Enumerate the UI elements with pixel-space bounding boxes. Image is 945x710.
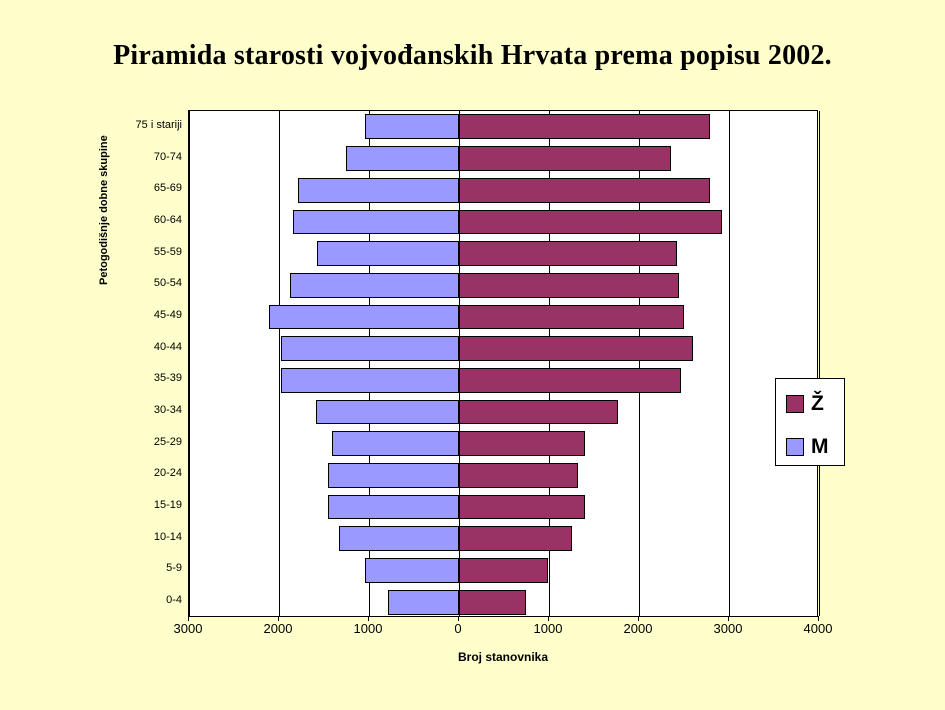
x-tick-label-3: 0 bbox=[454, 621, 461, 636]
y-axis-tick-labels: 75 i stariji70-7465-6960-6455-5950-5445-… bbox=[0, 110, 182, 617]
y-tick-15-19: 15-19 bbox=[154, 499, 182, 511]
bar-male-25-29 bbox=[332, 431, 459, 456]
legend-label-Ž: Ž bbox=[811, 393, 824, 414]
y-tick-45-49: 45-49 bbox=[154, 309, 182, 321]
bar-row bbox=[189, 305, 817, 330]
y-tick-0-4: 0-4 bbox=[166, 594, 182, 606]
x-axis-title: Broj stanovnika bbox=[188, 650, 818, 664]
y-tick-65-69: 65-69 bbox=[154, 182, 182, 194]
y-tick-60-64: 60-64 bbox=[154, 214, 182, 226]
bar-male-15-19 bbox=[328, 495, 459, 520]
bar-male-20-24 bbox=[328, 463, 459, 488]
bar-row bbox=[189, 210, 817, 235]
y-tick-10-14: 10-14 bbox=[154, 531, 182, 543]
plot-area bbox=[188, 110, 818, 617]
y-tick-5-9: 5-9 bbox=[166, 562, 182, 574]
bar-male-55-59 bbox=[317, 241, 459, 266]
bar-row bbox=[189, 526, 817, 551]
bar-male-10-14 bbox=[339, 526, 459, 551]
bar-male-35-39 bbox=[281, 368, 459, 393]
bar-row bbox=[189, 241, 817, 266]
y-tick-40-44: 40-44 bbox=[154, 341, 182, 353]
plot-inner bbox=[189, 111, 817, 616]
y-tick-75-i-stariji: 75 i stariji bbox=[136, 119, 182, 131]
bar-female-25-29 bbox=[459, 431, 585, 456]
x-tick-label-4: 1000 bbox=[534, 621, 563, 636]
bar-female-15-19 bbox=[459, 495, 585, 520]
bar-male-50-54 bbox=[290, 273, 459, 298]
bar-female-45-49 bbox=[459, 305, 684, 330]
legend-entry-Ž: Ž bbox=[786, 393, 824, 414]
bar-male-65-69 bbox=[298, 178, 459, 203]
bar-row bbox=[189, 463, 817, 488]
y-tick-55-59: 55-59 bbox=[154, 246, 182, 258]
bar-female-10-14 bbox=[459, 526, 572, 551]
x-tick-label-1: 2000 bbox=[264, 621, 293, 636]
legend-swatch-icon-Ž bbox=[786, 395, 804, 413]
y-tick-30-34: 30-34 bbox=[154, 404, 182, 416]
bar-row bbox=[189, 114, 817, 139]
bar-female-0-4 bbox=[459, 590, 526, 615]
bar-male-75-i-stariji bbox=[365, 114, 460, 139]
legend-label-M: M bbox=[811, 436, 829, 457]
bar-row bbox=[189, 590, 817, 615]
chart-legend: ŽM bbox=[775, 378, 845, 466]
bar-row bbox=[189, 368, 817, 393]
page-title: Piramida starosti vojvođanskih Hrvata pr… bbox=[0, 40, 945, 72]
y-tick-25-29: 25-29 bbox=[154, 436, 182, 448]
legend-entry-M: M bbox=[786, 436, 829, 457]
bar-row bbox=[189, 431, 817, 456]
bar-female-65-69 bbox=[459, 178, 710, 203]
x-tick-label-7: 4000 bbox=[804, 621, 833, 636]
bar-female-60-64 bbox=[459, 210, 722, 235]
bar-female-55-59 bbox=[459, 241, 677, 266]
x-axis-tick-labels: 30002000100001000200030004000 bbox=[188, 621, 818, 641]
bar-female-40-44 bbox=[459, 336, 693, 361]
y-tick-50-54: 50-54 bbox=[154, 277, 182, 289]
bar-row bbox=[189, 273, 817, 298]
bar-female-75-i-stariji bbox=[459, 114, 710, 139]
x-tick-label-2: 1000 bbox=[354, 621, 383, 636]
bar-row bbox=[189, 400, 817, 425]
bar-female-20-24 bbox=[459, 463, 578, 488]
bar-row bbox=[189, 146, 817, 171]
bar-male-5-9 bbox=[365, 558, 459, 583]
bar-male-40-44 bbox=[281, 336, 459, 361]
x-tick-label-5: 2000 bbox=[624, 621, 653, 636]
bar-female-50-54 bbox=[459, 273, 679, 298]
gridline bbox=[819, 111, 820, 616]
bar-female-35-39 bbox=[459, 368, 681, 393]
axis-zero-line bbox=[459, 111, 460, 616]
bar-row bbox=[189, 336, 817, 361]
y-tick-20-24: 20-24 bbox=[154, 467, 182, 479]
x-tick-label-0: 3000 bbox=[174, 621, 203, 636]
bar-female-70-74 bbox=[459, 146, 671, 171]
bar-row bbox=[189, 558, 817, 583]
bar-row bbox=[189, 178, 817, 203]
legend-swatch-icon-M bbox=[786, 438, 804, 456]
bar-row bbox=[189, 495, 817, 520]
bar-female-30-34 bbox=[459, 400, 618, 425]
bar-male-60-64 bbox=[293, 210, 459, 235]
bar-male-0-4 bbox=[388, 590, 459, 615]
bar-male-30-34 bbox=[316, 400, 459, 425]
y-tick-70-74: 70-74 bbox=[154, 151, 182, 163]
bar-male-45-49 bbox=[269, 305, 459, 330]
bar-male-70-74 bbox=[346, 146, 459, 171]
x-tick-label-6: 3000 bbox=[714, 621, 743, 636]
y-tick-35-39: 35-39 bbox=[154, 372, 182, 384]
bar-female-5-9 bbox=[459, 558, 548, 583]
